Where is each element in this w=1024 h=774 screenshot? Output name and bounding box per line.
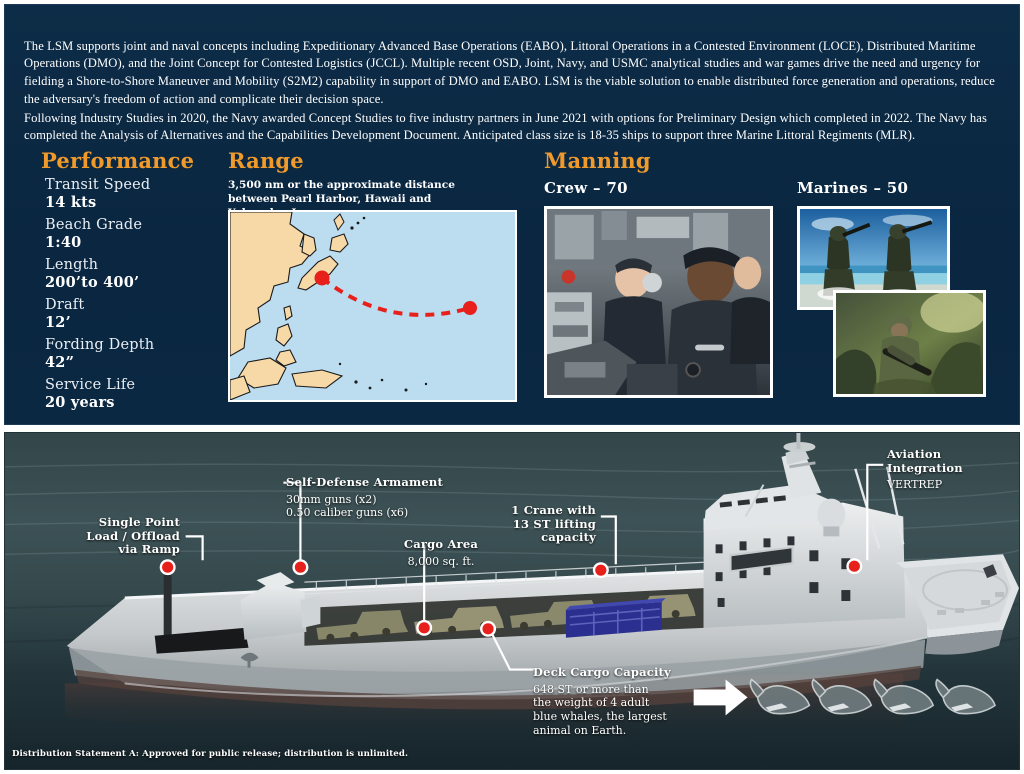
- callout-title: Cargo Area: [381, 538, 501, 552]
- callout-title-line1: Aviation: [887, 448, 1017, 462]
- callout-body: 8,000 sq. ft.: [381, 555, 501, 569]
- crew-photo-graphic: [547, 209, 770, 395]
- crew-label: Crew – 70: [544, 179, 628, 197]
- callout-title-line2: 13 ST lifting: [486, 518, 596, 532]
- callout-title-line3: via Ramp: [45, 543, 180, 557]
- spec-item: Fording Depth 42”: [45, 337, 225, 371]
- callout-body-line3: blue whales, the largest: [533, 710, 708, 724]
- callout-body-line2: 0.50 caliber guns (x6): [286, 506, 516, 520]
- spec-item: Transit Speed 14 kts: [45, 177, 225, 211]
- spec-label: Draft: [45, 297, 225, 314]
- callout-title-line1: Single Point: [45, 516, 180, 530]
- callout-title-line2: Integration: [887, 462, 1017, 476]
- callout-body-line2: the weight of 4 adult: [533, 696, 708, 710]
- callout-crane: 1 Crane with 13 ST lifting capacity: [486, 504, 596, 545]
- marines-label: Marines – 50: [797, 179, 908, 197]
- callout-title-line2: Load / Offload: [45, 530, 180, 544]
- range-heading: Range: [228, 148, 304, 173]
- spec-value: 20 years: [45, 394, 225, 411]
- performance-spec-list: Transit Speed 14 kts Beach Grade 1:40 Le…: [45, 177, 225, 417]
- spec-label: Length: [45, 257, 225, 274]
- spec-value: 42”: [45, 354, 225, 371]
- callout-body-line1: 648 ST or more than: [533, 683, 708, 697]
- spec-item: Service Life 20 years: [45, 377, 225, 411]
- callout-title: Deck Cargo Capacity: [533, 666, 708, 680]
- crew-photo: [544, 206, 773, 398]
- callout-aviation-integration: Aviation Integration VERTREP: [887, 448, 1017, 492]
- callout-cargo-area: Cargo Area 8,000 sq. ft.: [381, 538, 501, 568]
- spec-item: Length 200’to 400’: [45, 257, 225, 291]
- spec-label: Transit Speed: [45, 177, 225, 194]
- callout-body-line1: 30mm guns (x2): [286, 493, 516, 507]
- infographic-page: The LSM supports joint and naval concept…: [0, 0, 1024, 774]
- distribution-statement: Distribution Statement A: Approved for p…: [12, 749, 408, 759]
- spec-item: Beach Grade 1:40: [45, 217, 225, 251]
- spec-value: 200’to 400’: [45, 274, 225, 291]
- range-map: [228, 210, 517, 402]
- manning-heading: Manning: [544, 148, 651, 173]
- spec-label: Service Life: [45, 377, 225, 394]
- callout-single-point-load: Single Point Load / Offload via Ramp: [45, 516, 180, 557]
- spec-item: Draft 12’: [45, 297, 225, 331]
- callout-body: VERTREP: [887, 478, 1017, 492]
- marine-jungle-photo: [833, 290, 986, 397]
- callout-self-defense-armament: Self-Defense Armament 30mm guns (x2) 0.5…: [286, 476, 516, 520]
- spec-value: 14 kts: [45, 194, 225, 211]
- marine-jungle-graphic: [836, 293, 983, 394]
- callout-body-line4: animal on Earth.: [533, 724, 708, 738]
- spec-value: 12’: [45, 314, 225, 331]
- callout-title-line1: 1 Crane with: [486, 504, 596, 518]
- performance-heading: Performance: [41, 148, 194, 173]
- spec-value: 1:40: [45, 234, 225, 251]
- spec-label: Beach Grade: [45, 217, 225, 234]
- intro-paragraph-2: Following Industry Studies in 2020, the …: [24, 110, 1010, 146]
- spec-label: Fording Depth: [45, 337, 225, 354]
- callout-title-line3: capacity: [486, 531, 596, 545]
- intro-paragraph-1: The LSM supports joint and naval concept…: [24, 38, 1010, 110]
- callout-deck-cargo-capacity: Deck Cargo Capacity 648 ST or more than …: [533, 666, 708, 738]
- pacific-map-graphic: [230, 212, 515, 400]
- callout-title: Self-Defense Armament: [286, 476, 516, 490]
- overview-panel: The LSM supports joint and naval concept…: [4, 4, 1020, 425]
